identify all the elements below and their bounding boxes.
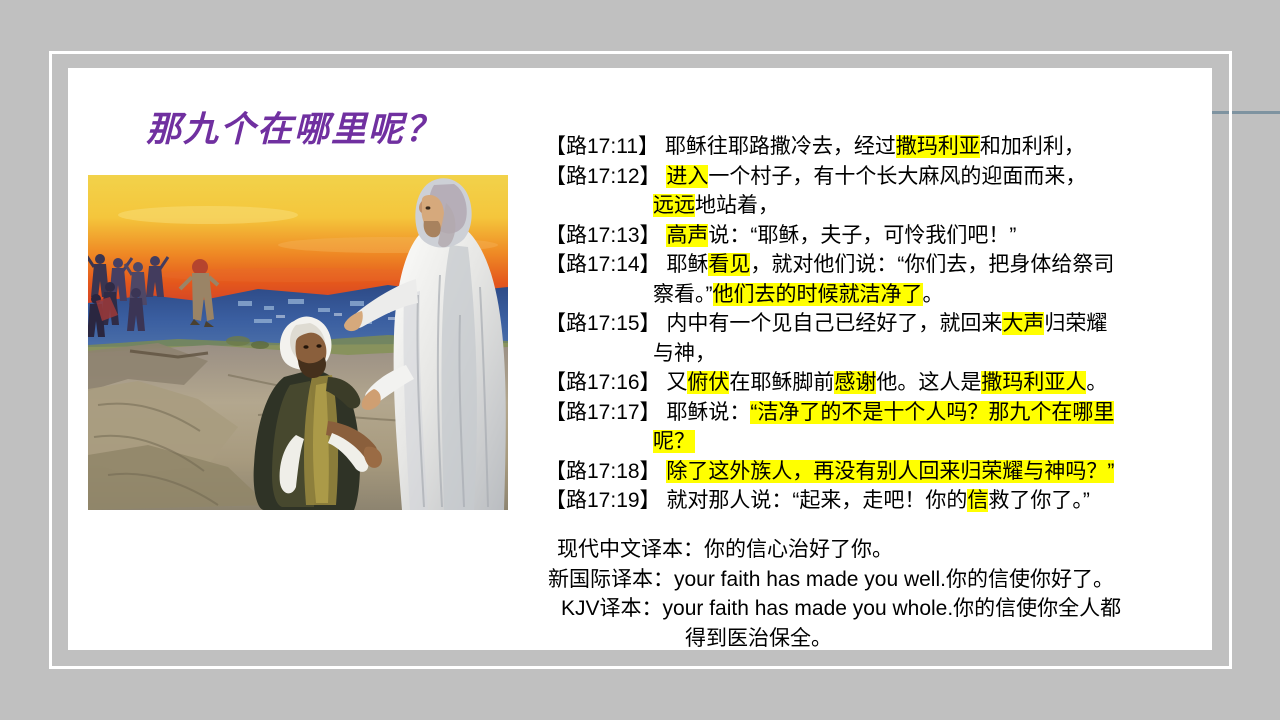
painting-artwork bbox=[88, 175, 508, 510]
highlighted-text: 高声 bbox=[666, 224, 708, 247]
verse-text: 耶稣说： bbox=[666, 401, 750, 424]
verse-line: 【路17:15】 内中有一个见自己已经好了，就回来大声归荣耀 bbox=[545, 309, 1205, 339]
verse-text: 地站着， bbox=[695, 194, 779, 217]
verse-reference: 【路17:16】 bbox=[545, 371, 666, 394]
verse-text: 救了你了。” bbox=[988, 489, 1090, 512]
verse-reference: 【路17:11】 bbox=[545, 135, 665, 158]
verse-body: 耶稣看见，就对他们说：“你们去，把身体给祭司 bbox=[666, 253, 1114, 276]
verse-body: 进入一个村子，有十个长大麻风的迎面而来， bbox=[666, 165, 1086, 188]
verse-body: 内中有一个见自己已经好了，就回来大声归荣耀 bbox=[666, 312, 1107, 335]
highlighted-text: 呢？ bbox=[653, 430, 695, 453]
highlighted-text: 撒玛利亚 bbox=[896, 135, 980, 158]
verse-reference: 【路17:18】 bbox=[545, 460, 666, 483]
translations-block: 现代中文译本：你的信心治好了你。新国际译本：your faith has mad… bbox=[545, 535, 1212, 650]
verse-line: 【路17:18】 除了这外族人，再没有别人回来归荣耀与神吗？” bbox=[545, 457, 1205, 487]
verse-text: 内中有一个见自己已经好了，就回来 bbox=[666, 312, 1002, 335]
highlighted-text: 撒玛利亚人 bbox=[981, 371, 1086, 394]
verse-line: 【路17:14】 耶稣看见，就对他们说：“你们去，把身体给祭司 bbox=[545, 250, 1205, 280]
verse-text: 就对那人说：“起来，走吧！你的 bbox=[666, 489, 967, 512]
verse-line: 【路17:11】 耶稣往耶路撒冷去，经过撒玛利亚和加利利， bbox=[545, 132, 1205, 162]
scripture-block: 【路17:11】 耶稣往耶路撒冷去，经过撒玛利亚和加利利，【路17:12】 进入… bbox=[545, 132, 1205, 516]
highlighted-text: 除了这外族人，再没有别人回来归荣耀与神吗？” bbox=[666, 460, 1114, 483]
verse-text: 在耶稣脚前 bbox=[729, 371, 834, 394]
highlighted-text: 大声 bbox=[1002, 312, 1044, 335]
highlighted-text: 感谢 bbox=[834, 371, 876, 394]
highlighted-text: 看见 bbox=[708, 253, 750, 276]
highlighted-text: 信 bbox=[967, 489, 988, 512]
translation-line: 现代中文译本：你的信心治好了你。 bbox=[545, 535, 1212, 565]
verse-text: 与神， bbox=[653, 342, 716, 365]
verse-text: 察看。” bbox=[653, 283, 713, 306]
verse-reference: 【路17:14】 bbox=[545, 253, 666, 276]
verse-line: 【路17:17】 耶稣说：“洁净了的不是十个人吗？那九个在哪里 bbox=[545, 398, 1205, 428]
verse-reference: 【路17:13】 bbox=[545, 224, 666, 247]
verse-text: 又 bbox=[666, 371, 687, 394]
verse-line: 【路17:13】 高声说：“耶稣，夫子，可怜我们吧！” bbox=[545, 221, 1205, 251]
verse-text: ，就对他们说：“你们去，把身体给祭司 bbox=[750, 253, 1114, 276]
verse-text: 和加利利， bbox=[980, 135, 1085, 158]
verse-continuation-line: 呢？ bbox=[545, 427, 1205, 457]
verse-text: 。 bbox=[923, 283, 944, 306]
verse-body: 除了这外族人，再没有别人回来归荣耀与神吗？” bbox=[666, 460, 1114, 483]
verse-line: 【路17:16】 又俯伏在耶稣脚前感谢他。这人是撒玛利亚人。 bbox=[545, 368, 1205, 398]
verse-reference: 【路17:19】 bbox=[545, 489, 666, 512]
highlighted-text: “洁净了的不是十个人吗？那九个在哪里 bbox=[750, 401, 1114, 424]
translation-line: 得到医治保全。 bbox=[545, 624, 1212, 651]
verse-line: 【路17:19】 就对那人说：“起来，走吧！你的信救了你了。” bbox=[545, 486, 1205, 516]
highlighted-text: 进入 bbox=[666, 165, 708, 188]
verse-continuation-line: 察看。”他们去的时候就洁净了。 bbox=[545, 280, 1205, 310]
verse-continuation-line: 与神， bbox=[545, 339, 1205, 369]
slide-stage: 那九个在哪里呢？ bbox=[0, 0, 1280, 720]
verse-text: 耶稣 bbox=[666, 253, 708, 276]
verse-body: 耶稣说：“洁净了的不是十个人吗？那九个在哪里 bbox=[666, 401, 1114, 424]
painting-jesus-and-healed-leper bbox=[88, 175, 508, 510]
highlighted-text: 俯伏 bbox=[687, 371, 729, 394]
verse-line: 【路17:12】 进入一个村子，有十个长大麻风的迎面而来， bbox=[545, 162, 1205, 192]
verse-body: 又俯伏在耶稣脚前感谢他。这人是撒玛利亚人。 bbox=[666, 371, 1107, 394]
translation-line: KJV译本：your faith has made you whole.你的信使… bbox=[545, 594, 1212, 624]
verse-text: 一个村子，有十个长大麻风的迎面而来， bbox=[708, 165, 1086, 188]
verse-reference: 【路17:17】 bbox=[545, 401, 666, 424]
verse-text: 他。这人是 bbox=[876, 371, 981, 394]
verse-body: 高声说：“耶稣，夫子，可怜我们吧！” bbox=[666, 224, 1016, 247]
page-title: 那九个在哪里呢？ bbox=[146, 101, 546, 152]
verse-text: 归荣耀 bbox=[1044, 312, 1107, 335]
translation-line: 新国际译本：your faith has made you well.你的信使你… bbox=[545, 565, 1212, 595]
verse-text: 说：“耶稣，夫子，可怜我们吧！” bbox=[708, 224, 1016, 247]
slide-canvas: 那九个在哪里呢？ bbox=[68, 68, 1212, 650]
verse-text: 。 bbox=[1086, 371, 1107, 394]
verse-reference: 【路17:12】 bbox=[545, 165, 666, 188]
verse-body: 就对那人说：“起来，走吧！你的信救了你了。” bbox=[666, 489, 1090, 512]
highlighted-text: 远远 bbox=[653, 194, 695, 217]
verse-body: 耶稣往耶路撒冷去，经过撒玛利亚和加利利， bbox=[665, 135, 1085, 158]
verse-reference: 【路17:15】 bbox=[545, 312, 666, 335]
verse-continuation-line: 远远地站着， bbox=[545, 191, 1205, 221]
verse-text: 耶稣往耶路撒冷去，经过 bbox=[665, 135, 896, 158]
highlighted-text: 他们去的时候就洁净了 bbox=[713, 283, 923, 306]
